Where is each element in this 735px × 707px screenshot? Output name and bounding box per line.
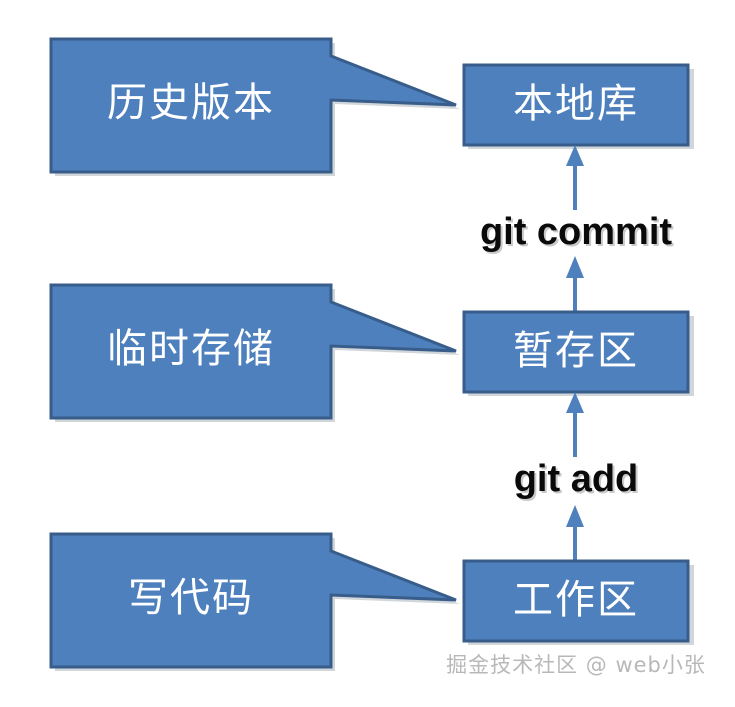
arrow-git-add-lower: [566, 505, 584, 561]
arrow-git-commit-lower: [566, 256, 584, 312]
stage-staging-area-label: 暂存区: [513, 328, 639, 374]
command-git-add-label: git add: [514, 458, 639, 500]
arrow-git-add-upper: [566, 392, 584, 457]
command-git-add: git add git add: [514, 458, 641, 502]
callout-temporary-storage-label: 临时存储: [107, 326, 275, 372]
callout-write-code-label: 写代码: [128, 575, 254, 621]
git-workflow-diagram: 历史版本 本地库 git commit git commit: [0, 0, 735, 707]
stage-working-directory[interactable]: 工作区: [464, 561, 688, 641]
callout-history-version-label: 历史版本: [107, 80, 275, 126]
stage-local-repository-label: 本地库: [513, 81, 639, 127]
diagram-canvas: 历史版本 本地库 git commit git commit: [0, 0, 735, 707]
arrow-git-commit-upper: [566, 145, 584, 210]
command-git-commit: git commit git commit: [480, 211, 674, 255]
stage-working-directory-label: 工作区: [513, 577, 639, 623]
stage-local-repository[interactable]: 本地库: [464, 65, 688, 145]
command-git-commit-label: git commit: [480, 211, 672, 253]
stage-staging-area[interactable]: 暂存区: [464, 312, 688, 392]
watermark-text: 掘金技术社区 @ web小张: [446, 653, 706, 677]
